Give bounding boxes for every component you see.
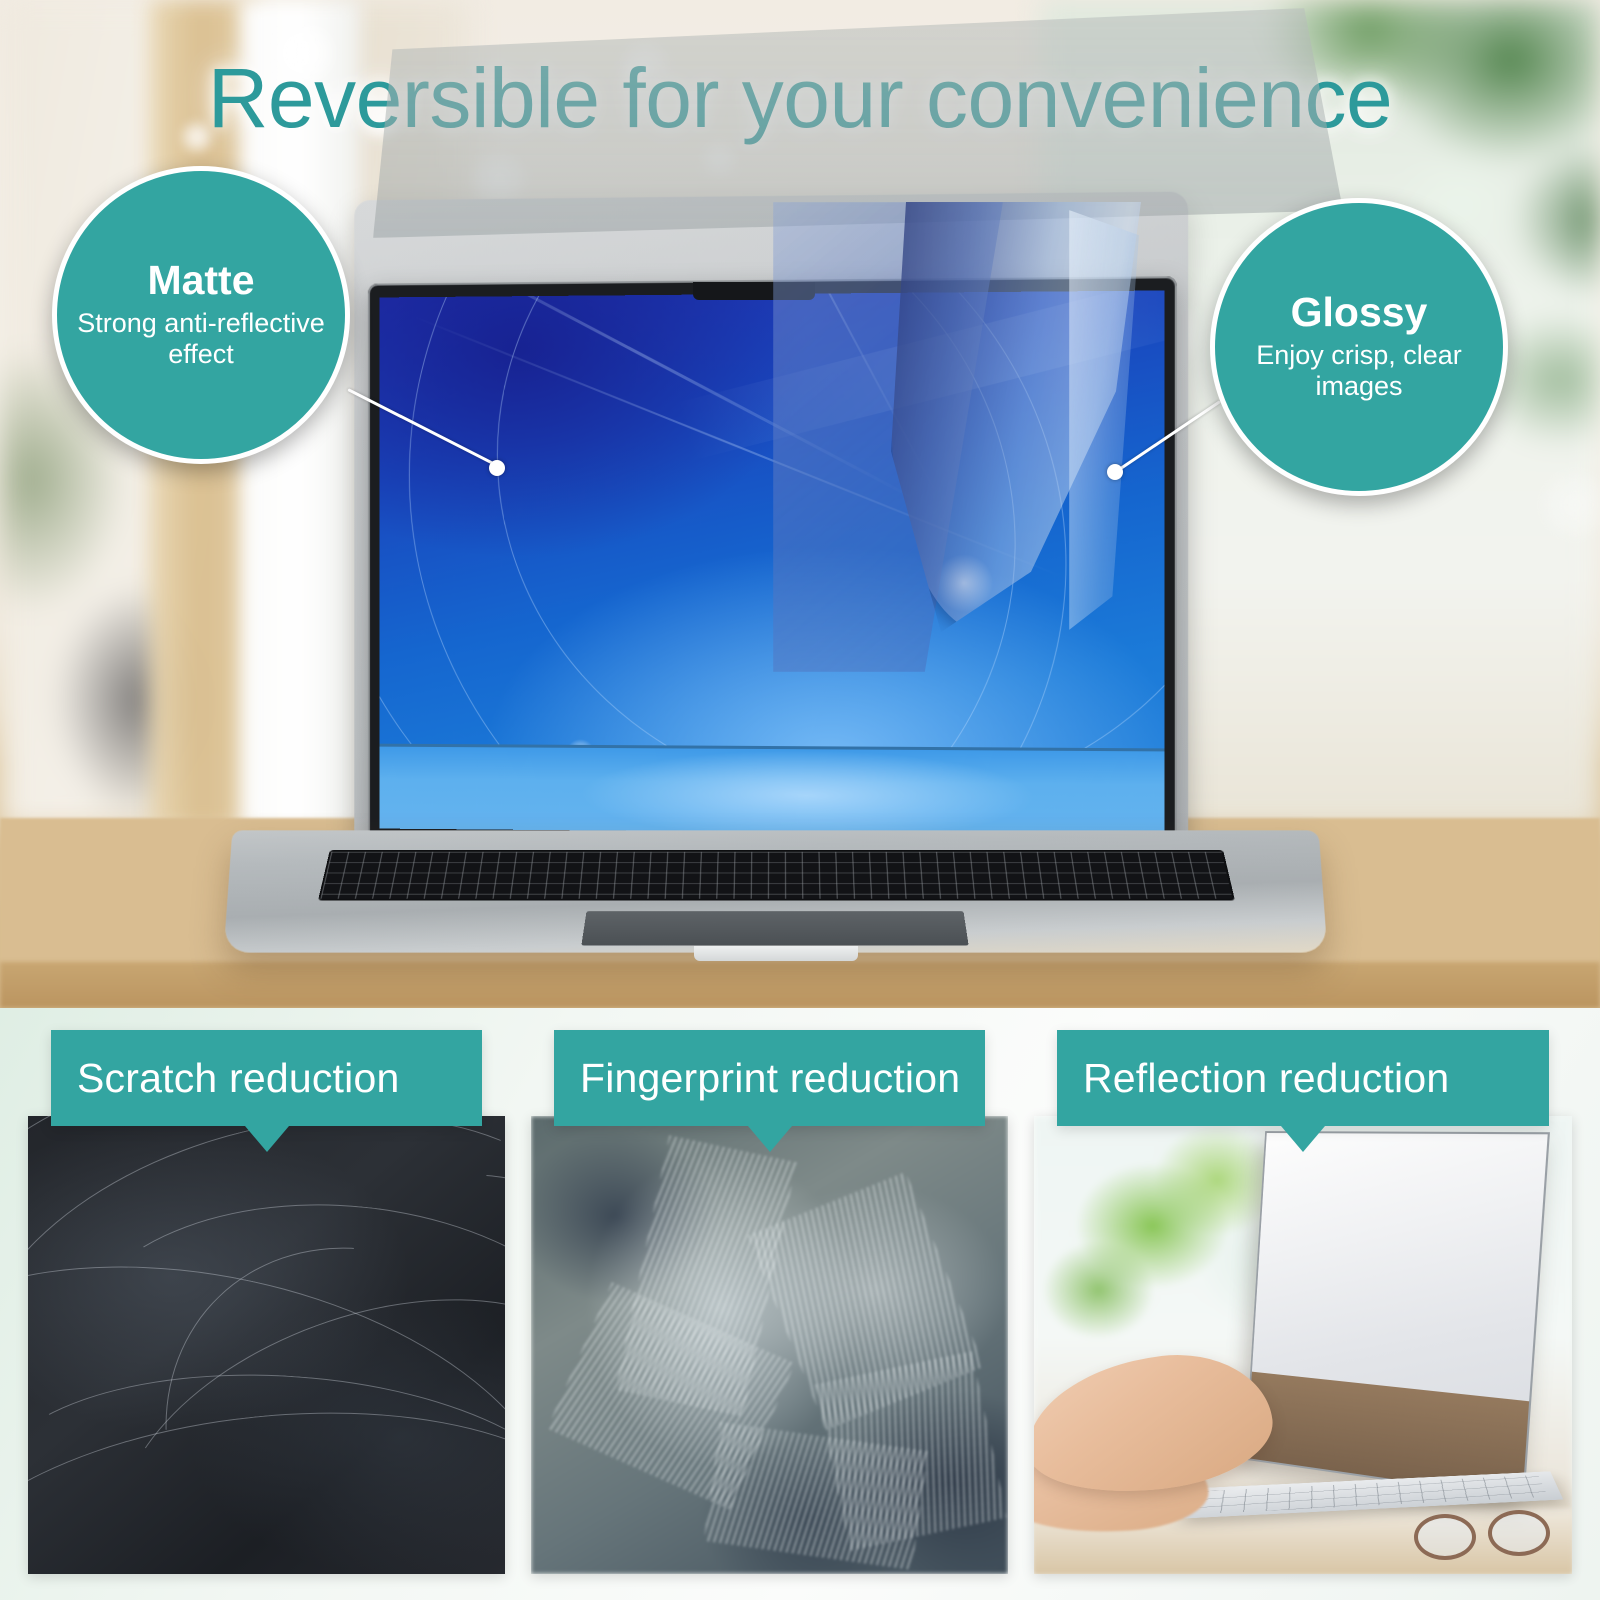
feature-label-reflection: Reflection reduction: [1057, 1055, 1449, 1102]
feature-banner-fingerprint: Fingerprint reduction: [554, 1030, 985, 1126]
callout-badge-glossy[interactable]: Glossy Enjoy crisp, clear images: [1210, 198, 1508, 496]
feature-label-fingerprint: Fingerprint reduction: [554, 1055, 960, 1102]
feature-image-scratch: [28, 1116, 505, 1574]
badge-matte-title: Matte: [147, 260, 254, 302]
feature-image-reflection: [1034, 1116, 1572, 1574]
features-section: Scratch reduction Fingerprint reduction: [0, 1008, 1600, 1600]
banner-pointer-reflection: [1281, 1126, 1325, 1152]
laptop-screen: [380, 290, 1165, 835]
banner-pointer-scratch: [245, 1126, 289, 1152]
leader-dot-glossy: [1107, 464, 1123, 480]
badge-glossy-subtitle: Enjoy crisp, clear images: [1215, 340, 1503, 403]
feature-image-fingerprint: [531, 1116, 1008, 1574]
webcam-notch: [693, 282, 815, 300]
page-title: Reversible for your convenience: [0, 56, 1600, 140]
eyeglass-lens-right: [1488, 1510, 1550, 1556]
keyboard-keys: [320, 852, 1232, 899]
laptop-device: [228, 196, 1348, 966]
base-front-notch: [694, 946, 858, 961]
feature-label-scratch: Scratch reduction: [51, 1055, 399, 1102]
glossy-laptop-screen: [1245, 1131, 1550, 1500]
desk-front-edge: [0, 962, 1600, 1008]
feature-banner-reflection: Reflection reduction: [1057, 1030, 1549, 1126]
screen-bottom-glow: [580, 749, 1036, 836]
screen-highlight: [935, 554, 994, 612]
bokeh-light: [700, 140, 738, 178]
badge-matte-subtitle: Strong anti-reflective effect: [57, 308, 345, 371]
feature-banner-scratch: Scratch reduction: [51, 1030, 482, 1126]
eyeglasses: [1414, 1510, 1564, 1562]
callout-badge-matte[interactable]: Matte Strong anti-reflective effect: [52, 166, 350, 464]
banner-pointer-fingerprint: [748, 1126, 792, 1152]
eyeglass-lens-left: [1414, 1514, 1476, 1560]
laptop-keyboard: [318, 850, 1235, 900]
laptop-trackpad: [581, 911, 968, 946]
leader-dot-matte: [489, 460, 505, 476]
hero-section: Reversible for your convenience: [0, 0, 1600, 1008]
badge-glossy-title: Glossy: [1291, 292, 1428, 334]
